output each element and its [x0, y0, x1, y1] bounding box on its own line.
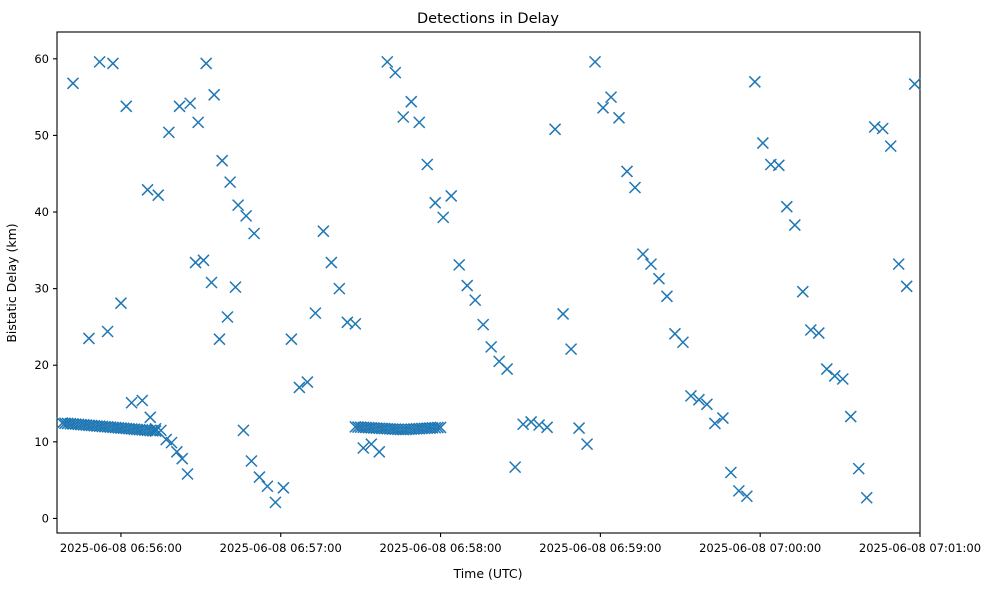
figure-background: [0, 0, 988, 590]
figure-canvas: Detections in Delay 2025-06-08 06:56:002…: [0, 0, 988, 590]
y-tick-label: 40: [34, 205, 49, 219]
x-tick-label: 2025-06-08 07:01:00: [859, 541, 981, 555]
x-tick-label: 2025-06-08 07:00:00: [699, 541, 821, 555]
chart-title: Detections in Delay: [417, 11, 559, 27]
y-tick-label: 0: [42, 511, 49, 525]
x-tick-label: 2025-06-08 06:56:00: [60, 541, 182, 555]
x-tick-label: 2025-06-08 06:57:00: [220, 541, 342, 555]
y-axis-label: Bistatic Delay (km): [4, 223, 19, 342]
y-tick-label: 20: [34, 358, 49, 372]
y-tick-label: 60: [34, 52, 49, 66]
x-axis-label: Time (UTC): [452, 566, 522, 581]
x-tick-label: 2025-06-08 06:59:00: [539, 541, 661, 555]
y-tick-label: 10: [34, 435, 49, 449]
y-tick-label: 30: [34, 282, 49, 296]
scatter-plot: Detections in Delay 2025-06-08 06:56:002…: [0, 0, 988, 590]
y-tick-label: 50: [34, 128, 49, 142]
x-tick-label: 2025-06-08 06:58:00: [379, 541, 501, 555]
